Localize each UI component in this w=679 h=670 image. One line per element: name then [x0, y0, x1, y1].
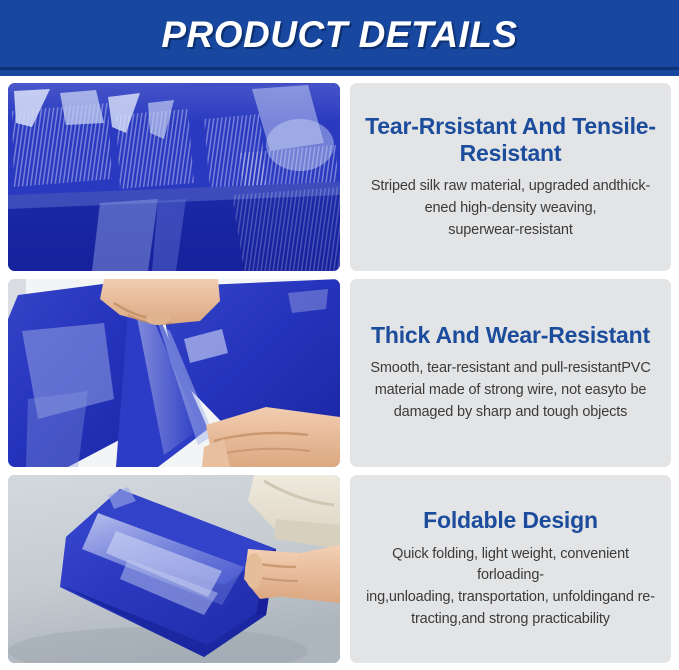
section-row-3: Foldable Design Quick folding, light wei… [8, 475, 671, 663]
hands-stretching-tarp-illustration [8, 279, 340, 467]
section-text-panel-2: Thick And Wear-Resistant Smooth, tear-re… [350, 279, 671, 467]
sections-container: Tear-Rrsistant And Tensile-Resistant Str… [0, 76, 679, 670]
fabric-closeup-illustration [8, 83, 340, 271]
folded-tarp-bundle-illustration [8, 475, 340, 663]
section-heading-2: Thick And Wear-Resistant [371, 322, 650, 349]
product-photo-hands-stretching [8, 279, 340, 467]
section-text-panel-3: Foldable Design Quick folding, light wei… [350, 475, 671, 663]
section-body-3: Quick folding, light weight, convenient … [364, 544, 657, 631]
product-details-infographic: PRODUCT DETAILS [0, 0, 679, 670]
product-photo-folded-bundle [8, 475, 340, 663]
section-row-1: Tear-Rrsistant And Tensile-Resistant Str… [8, 83, 671, 271]
section-text-panel-1: Tear-Rrsistant And Tensile-Resistant Str… [350, 83, 671, 271]
section-row-2: Thick And Wear-Resistant Smooth, tear-re… [8, 279, 671, 467]
header-banner: PRODUCT DETAILS [0, 0, 679, 76]
page-title: PRODUCT DETAILS [0, 14, 679, 56]
section-body-1: Striped silk raw material, upgraded andt… [371, 176, 650, 241]
product-photo-fabric-closeup [8, 83, 340, 271]
section-heading-3: Foldable Design [423, 507, 598, 534]
section-body-2: Smooth, tear-resistant and pull-resistan… [370, 358, 650, 423]
section-heading-1: Tear-Rrsistant And Tensile-Resistant [364, 113, 657, 167]
header-underline-divider [0, 67, 679, 70]
